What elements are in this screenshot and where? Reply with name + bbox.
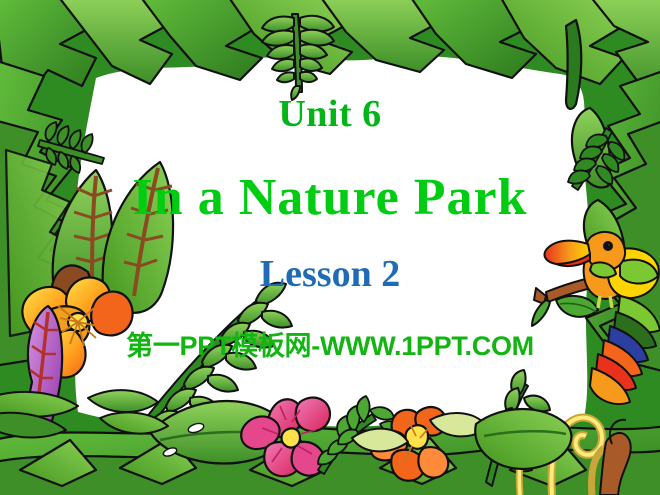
lesson-label: Lesson 2 bbox=[0, 252, 660, 296]
watermark-text: 第一PPT模板网-WWW.1PPT.COM bbox=[0, 324, 660, 363]
slide-title: In a Nature Park bbox=[0, 168, 660, 227]
unit-label: Unit 6 bbox=[0, 92, 660, 136]
presentation-slide: Unit 6 In a Nature Park Lesson 2 第一PPT模板… bbox=[0, 0, 660, 495]
slide-text-content: Unit 6 In a Nature Park Lesson 2 第一PPT模板… bbox=[0, 0, 660, 495]
